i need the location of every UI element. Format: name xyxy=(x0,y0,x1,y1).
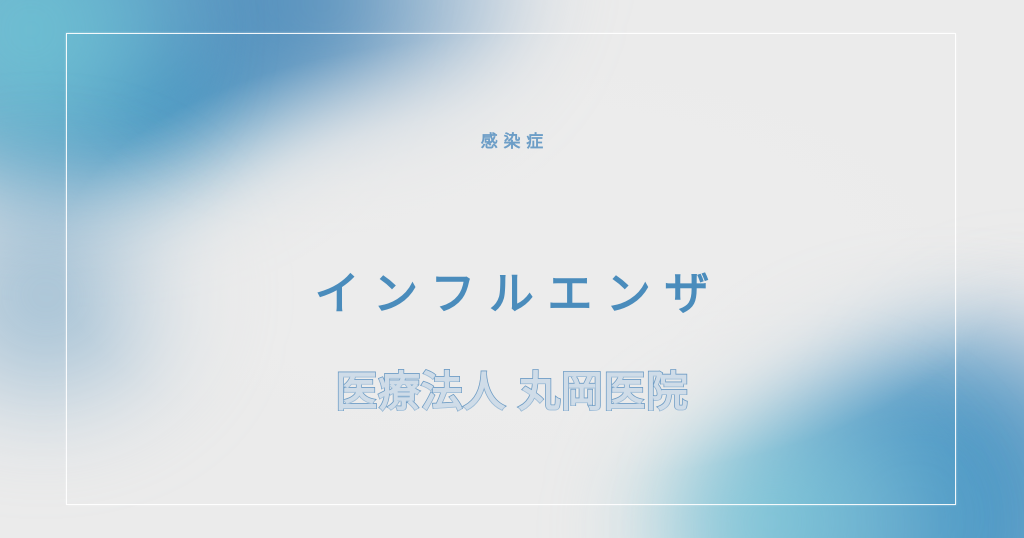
organization-name: 医療法人 丸岡医院 xyxy=(0,369,1024,414)
category-eyebrow: 感染症 xyxy=(0,127,1024,152)
page-title: インフルエンザ xyxy=(0,270,1024,317)
title-slide: 感染症 インフルエンザ 医療法人 丸岡医院 xyxy=(0,0,1024,538)
slide-content: 感染症 インフルエンザ 医療法人 丸岡医院 xyxy=(0,0,1024,538)
